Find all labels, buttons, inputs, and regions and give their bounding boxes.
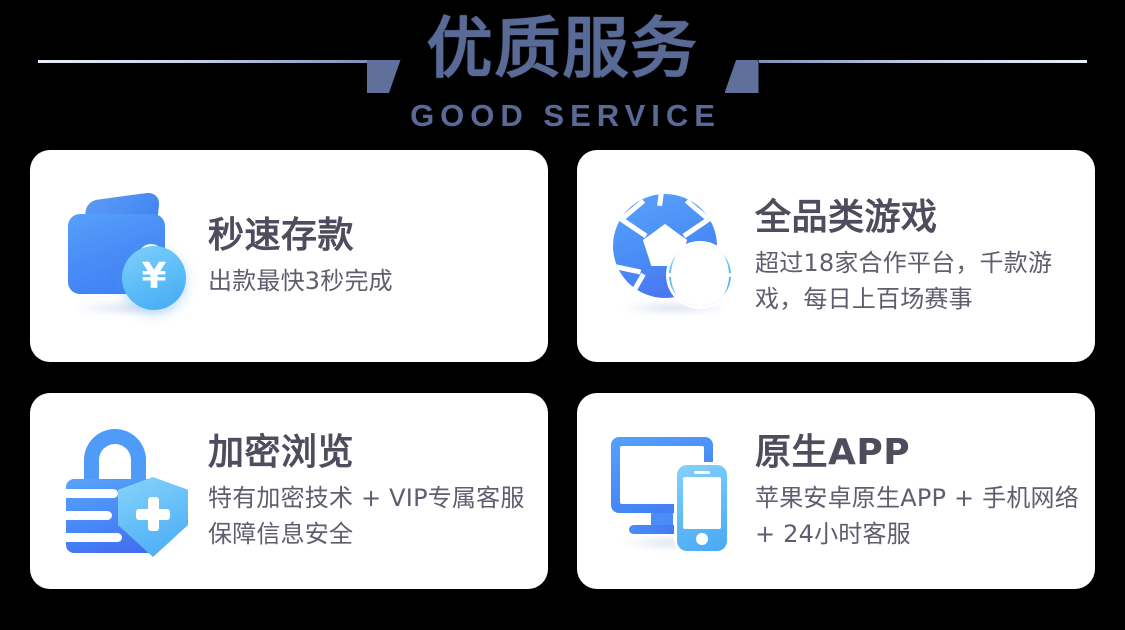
soccer-seam	[657, 194, 666, 206]
soccer-seam	[613, 263, 641, 275]
basketball-seam	[671, 244, 729, 306]
soccer-seam	[619, 199, 645, 222]
promo-banner: 优质服务 GOOD SERVICE ¥ 秒速存款 出款最快3秒完成	[0, 0, 1125, 630]
banner-header: 优质服务 GOOD SERVICE	[0, 0, 1125, 148]
card-description: 苹果安卓原生APP + 手机网络 + 24小时客服	[755, 480, 1081, 552]
wallet-coin-icon: ¥	[60, 186, 200, 326]
yen-coin-icon: ¥	[122, 246, 186, 310]
phone-screen	[683, 477, 721, 529]
cross-icon	[136, 497, 170, 531]
monitor-phone-icon	[607, 421, 747, 561]
service-card-deposit[interactable]: ¥ 秒速存款 出款最快3秒完成	[30, 150, 548, 362]
card-title: 原生APP	[755, 430, 1081, 476]
card-title: 全品类游戏	[755, 195, 1081, 241]
soccer-seam	[625, 273, 645, 298]
card-description: 出款最快3秒完成	[208, 263, 534, 299]
card-title: 加密浏览	[208, 430, 534, 476]
banner-title-cn: 优质服务	[0, 8, 1125, 90]
lock-stripe	[66, 533, 122, 542]
phone-home-button	[696, 533, 708, 545]
card-description: 超过18家合作平台，千款游戏，每日上百场赛事	[755, 245, 1081, 317]
card-title: 秒速存款	[208, 213, 534, 259]
soccer-seam	[685, 199, 711, 222]
service-card-native-app[interactable]: 原生APP 苹果安卓原生APP + 手机网络 + 24小时客服	[577, 393, 1095, 589]
soccer-basketball-icon	[607, 186, 747, 326]
card-text-native-app: 原生APP 苹果安卓原生APP + 手机网络 + 24小时客服	[747, 430, 1095, 552]
service-card-grid: ¥ 秒速存款 出款最快3秒完成	[30, 150, 1095, 590]
service-card-games[interactable]: 全品类游戏 超过18家合作平台，千款游戏，每日上百场赛事	[577, 150, 1095, 362]
card-text-deposit: 秒速存款 出款最快3秒完成	[200, 213, 548, 299]
lock-stripe	[66, 511, 112, 520]
yen-symbol: ¥	[141, 259, 166, 295]
smartphone-icon	[677, 465, 727, 551]
phone-earpiece	[694, 471, 710, 474]
card-description: 特有加密技术 + VIP专属客服保障信息安全	[208, 480, 534, 552]
card-text-encryption: 加密浏览 特有加密技术 + VIP专属客服保障信息安全	[200, 430, 548, 552]
cross-bar-horizontal	[136, 509, 170, 520]
card-text-games: 全品类游戏 超过18家合作平台，千款游戏，每日上百场赛事	[747, 195, 1095, 317]
banner-title-en: GOOD SERVICE	[0, 98, 1125, 134]
lock-stripe	[66, 489, 118, 498]
lock-shield-icon	[60, 421, 200, 561]
service-card-encryption[interactable]: 加密浏览 特有加密技术 + VIP专属客服保障信息安全	[30, 393, 548, 589]
basketball-icon	[669, 244, 731, 306]
